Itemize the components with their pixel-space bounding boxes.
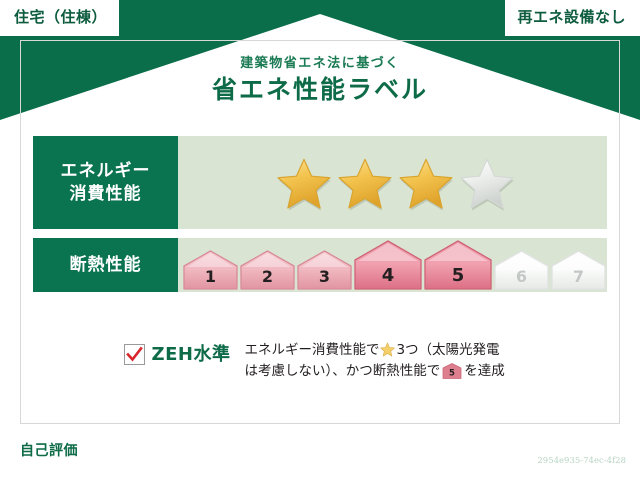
zeh-section: ZEH水準 エネルギー消費性能で3つ（太陽光発電は考慮しない）、かつ断熱性能で5… [0,336,640,382]
svg-text:5: 5 [449,368,455,378]
zeh-desc-part-2: 3つ（太陽光発電 [396,342,499,358]
metric-row-energy-consumption: エネルギー 消費性能 [33,136,607,229]
zeh-label: ZEH水準 [152,346,231,364]
metric-label-line-1: 断熱性能 [70,254,142,277]
insulation-step-number: 1 [183,269,238,285]
self-evaluation-tag: 自己評価 [14,440,84,463]
zeh-desc-part-1: エネルギー消費性能で [244,342,379,358]
insulation-step-2: 2 [240,250,295,290]
insulation-step-7: 7 [551,250,606,290]
renewable-energy-tag: 再エネ設備なし [505,0,640,36]
property-address: 岡山県倉敷市中畝５丁目 [92,445,230,458]
zeh-checkbox[interactable] [124,344,145,365]
metric-value-energy-consumption [178,136,607,229]
metric-row-insulation: 断熱性能 1234567 [33,238,607,292]
star-rating [269,155,516,211]
energy-performance-label: 住宅（住棟） 再エネ設備なし 建築物省エネ法に基づく 省エネ性能ラベル エネルギ… [0,0,640,479]
star-filled-icon [397,155,455,211]
insulation-step-number: 5 [424,267,492,285]
star-filled-icon [336,155,394,211]
building-type-tag: 住宅（住棟） [0,0,119,36]
insulation-step-4: 4 [354,240,422,290]
check-icon [126,346,143,363]
zeh-desc-part-4: を達成 [464,363,505,379]
title-block: 建築物省エネ法に基づく 省エネ性能ラベル [0,56,640,104]
footer-left: 自己評価 岡山県倉敷市中畝５丁目 [14,440,230,463]
star-empty-icon [458,155,516,211]
title-subtitle: 建築物省エネ法に基づく [0,56,640,72]
insulation-step-number: 3 [297,269,352,285]
zeh-badge: ZEH水準 [124,336,231,365]
metric-label-line-2: 消費性能 [70,183,142,206]
metric-value-insulation: 1234567 [178,238,607,292]
zeh-description: エネルギー消費性能で3つ（太陽光発電は考慮しない）、かつ断熱性能で5を達成 [244,336,516,382]
footer-bar: 自己評価 岡山県倉敷市中畝５丁目 評価日 2024年12月20日 2954e93… [0,429,640,479]
insulation-step-6: 6 [494,250,549,290]
inline-star-icon [380,342,395,357]
insulation-step-number: 4 [354,267,422,285]
insulation-step-1: 1 [183,250,238,290]
insulation-step-5: 5 [424,240,492,290]
metric-label-line-1: エネルギー [61,160,151,183]
insulation-step-3: 3 [297,250,352,290]
zeh-desc-part-3: は考慮しない）、かつ断熱性能で [244,363,440,379]
insulation-step-number: 7 [551,269,606,285]
insulation-step-number: 2 [240,269,295,285]
metric-label-energy-consumption: エネルギー 消費性能 [33,136,178,229]
evaluation-id: 2954e935-74ec-4f28 [472,456,626,466]
metric-label-insulation: 断熱性能 [33,238,178,292]
inline-insulation-chip-icon: 5 [442,363,462,379]
evaluation-date: 評価日 2024年12月20日 [472,437,626,453]
insulation-step-number: 6 [494,269,549,285]
insulation-scale: 1234567 [179,240,606,290]
star-filled-icon [275,155,333,211]
footer-right: 評価日 2024年12月20日 2954e935-74ec-4f28 [472,437,626,466]
page-title: 省エネ性能ラベル [0,76,640,105]
